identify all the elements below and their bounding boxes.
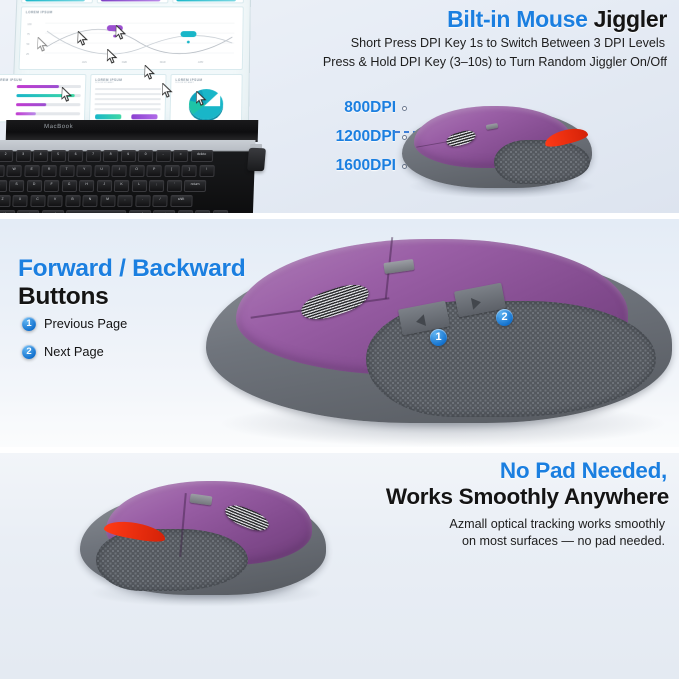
keyboard-key[interactable]: V [47,195,62,207]
list-card-subtitle: DOLOR SIT AMET [95,82,165,84]
panel-mouse-jiggler: LOREM IPSUM 10075 5025 JANFEB MARAPR [0,0,679,213]
dashboard-card-top-2 [97,0,169,3]
mouse-product-render-on-pad [74,475,334,607]
keyboard-key[interactable]: [ [164,165,179,177]
laptop-screen: LOREM IPSUM 10075 5025 JANFEB MARAPR [11,0,251,124]
keyboard-key[interactable]: O [129,165,144,177]
keyboard-key[interactable]: X [12,195,27,207]
keyboard-row: capsASDFGHJKL;'return [0,180,206,192]
keyboard-key[interactable]: - [155,150,170,162]
keyboard-key[interactable]: L [131,180,146,192]
keyboard-key[interactable]: . [135,195,150,207]
panel2-title-line2: Buttons [18,283,108,311]
keyboard-key[interactable]: 2 [0,150,13,162]
svg-text:FEB: FEB [122,60,127,64]
keyboard-key[interactable]: W [6,165,21,177]
panel1-title-black: Jiggler [594,6,667,32]
dpi-level-800: 800DPI [310,96,407,120]
legend-label-1: Previous Page [44,316,127,331]
keyboard-key[interactable]: return [184,180,206,192]
dpi-level-1600: 1600DPI [310,154,407,178]
macbook-illustration: LOREM IPSUM 10075 5025 JANFEB MARAPR [0,0,262,213]
product-feature-sheet: LOREM IPSUM 10075 5025 JANFEB MARAPR [0,0,679,679]
panel-forward-backward-buttons: 1 2 Forward / Backward Buttons 1 Previou… [0,219,679,447]
keyboard-key[interactable]: N [82,195,97,207]
dashboard-card-top-3 [172,0,244,3]
keyboard-key[interactable]: P [146,165,161,177]
legend-label-2: Next Page [44,344,104,359]
keyboard-key[interactable]: 9 [120,150,135,162]
keyboard-key[interactable]: D [26,180,41,192]
keyboard-key[interactable]: / [152,195,167,207]
keyboard-key[interactable]: \ [199,165,214,177]
keyboard-key[interactable]: I [111,165,126,177]
keyboard-key[interactable]: H [79,180,94,192]
dpi-label: 1600DPI [310,157,396,175]
panel1-subtitle-2: Press & Hold DPI Key (3–10s) to Turn Ran… [323,55,667,69]
keyboard-key[interactable]: S [9,180,24,192]
svg-text:100: 100 [27,22,32,26]
keyboard-key[interactable]: ' [166,180,181,192]
keyboard-key[interactable]: Y [76,165,91,177]
keyboard-key[interactable]: = [173,150,188,162]
dpi-label: 800DPI [310,99,396,117]
laptop-brand-label: MacBook [44,124,73,130]
panel2-title-line1: Forward / Backward [18,255,245,283]
line-chart-svg: 10075 5025 JANFEB MARAPR [20,17,245,67]
keyboard-key[interactable]: G [61,180,76,192]
list-card-button-1 [95,114,121,119]
keyboard-key[interactable]: 0 [138,150,153,162]
panel3-body-line1: Azmall optical tracking works smoothly [449,517,665,531]
keyboard-key[interactable]: F [44,180,59,192]
keyboard-key[interactable]: A [0,180,7,192]
dpi-level-1200: 1200DPI [310,125,407,149]
dashboard-list-card: LOREM IPSUM DOLOR SIT AMET [89,74,167,122]
dashboard-card-top-1 [21,0,93,3]
dashboard-line-chart-card: LOREM IPSUM 10075 5025 JANFEB MARAPR [18,6,243,70]
panel2-title-forward: Forward [18,255,113,282]
keyboard-key[interactable]: Q [0,165,4,177]
panel2-title-backward: Backward [132,255,245,282]
svg-text:JAN: JAN [82,60,87,64]
panel3-body-line2: on most surfaces — no pad needed. [462,534,665,548]
keyboard-key[interactable]: ; [149,180,164,192]
keyboard-key[interactable]: U [94,165,109,177]
dpi-level-list: 800DPI 1200DPI 1600DPI [310,96,407,183]
legend-previous-page: 1 Previous Page [22,316,127,331]
mouse-product-render-top [398,96,598,200]
panel1-title: Bilt-in Mouse Jiggler [447,6,667,33]
keyboard-key[interactable]: shift [170,195,192,207]
keyboard-key[interactable]: C [30,195,45,207]
keyboard-key[interactable]: delete [190,150,212,162]
svg-text:75: 75 [27,32,31,36]
svg-text:25: 25 [26,52,30,56]
panel1-subtitle-1: Short Press DPI Key 1s to Switch Between… [351,36,665,50]
legend-next-page: 2 Next Page [22,344,104,359]
chart-card-title: LOREM IPSUM [26,10,243,14]
keyboard-key[interactable]: 3 [15,150,30,162]
svg-text:50: 50 [26,42,30,46]
keyboard-row: tabQWERTYUIOP[]\ [0,165,214,177]
keyboard-row: shiftZXCVBNM,./shift [0,195,192,207]
keyboard-key[interactable]: ] [181,165,196,177]
dpi-label: 1200DPI [310,128,396,146]
mouse-product-render-side: 1 2 [188,233,679,447]
keyboard-key[interactable]: M [100,195,115,207]
keyboard-key[interactable]: K [114,180,129,192]
keyboard-key[interactable]: J [96,180,111,192]
dashboard-progress-card: LOREM IPSUM [0,74,86,122]
panel3-title-blue: No Pad Needed, [500,458,667,483]
keyboard-key[interactable]: T [59,165,74,177]
callout-badge-1: 1 [430,329,447,346]
svg-text:MAR: MAR [160,60,166,64]
panel3-title-line2: Works Smoothly Anywhere [386,484,669,510]
panel2-title-slash: / [113,255,133,282]
keyboard-key[interactable]: E [24,165,39,177]
keyboard-key[interactable]: 5 [50,150,65,162]
progress-card-title: LOREM IPSUM [0,78,85,82]
panel3-title-line1: No Pad Needed, [500,458,667,484]
usb-receiver-dongle [247,148,266,172]
keyboard-row: ~1234567890-=delete [0,150,213,162]
callout-badge-2: 2 [496,309,513,326]
pie-card-subtitle: DOLOR SIT AMET [175,82,241,84]
keyboard-key[interactable]: 7 [85,150,100,162]
keyboard-key[interactable]: 6 [68,150,83,162]
panel1-title-blue: Bilt-in Mouse [447,6,587,32]
keyboard-key[interactable]: , [117,195,132,207]
keyboard-key[interactable]: R [41,165,56,177]
keyboard-key[interactable]: B [65,195,80,207]
keyboard-key[interactable]: 4 [33,150,48,162]
laptop-keyboard: ~1234567890-=deletetabQWERTYUIOP[]\capsA… [0,150,253,213]
legend-badge-1: 1 [22,317,36,331]
keyboard-key[interactable]: 8 [103,150,118,162]
list-card-button-2 [131,114,157,119]
panel-no-pad-needed: No Pad Needed, Works Smoothly Anywhere A… [0,453,679,679]
legend-badge-2: 2 [22,345,36,359]
keyboard-key[interactable]: Z [0,195,10,207]
svg-text:APR: APR [198,60,204,64]
